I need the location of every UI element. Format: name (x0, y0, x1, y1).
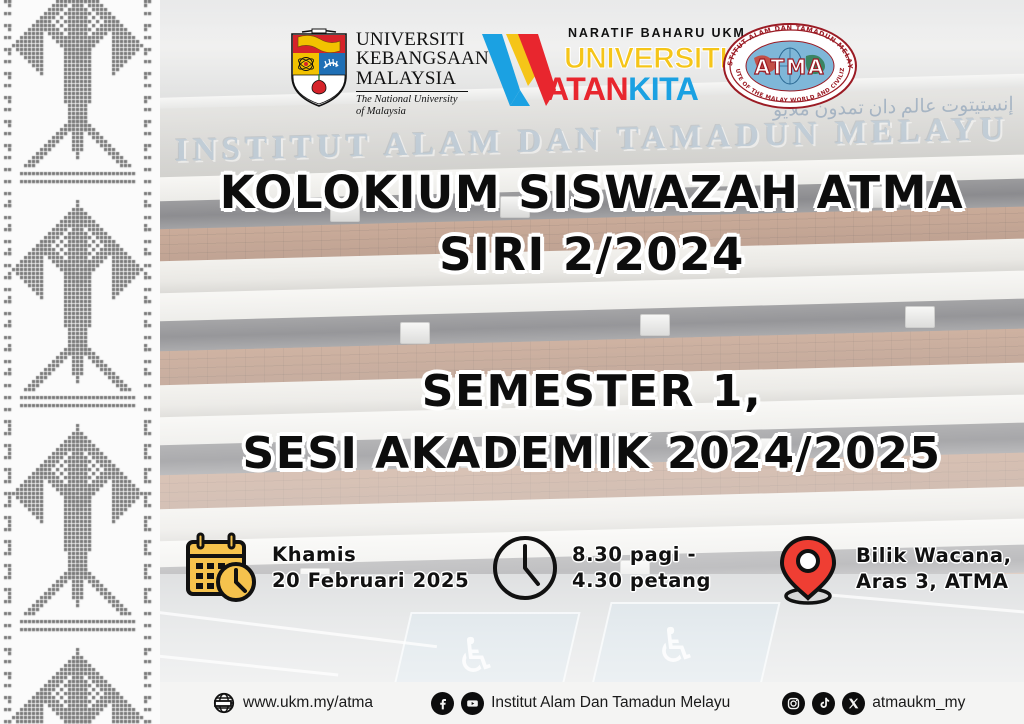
page-title-line2: SIRI 2/2024 (160, 232, 1024, 277)
svg-text:ATMA: ATMA (755, 55, 826, 79)
tiktok-icon[interactable] (812, 692, 835, 715)
footer-page-name: Institut Alam Dan Tamadun Melayu (491, 694, 730, 712)
event-time-line1: 8.30 pagi - (572, 542, 711, 568)
footer-social-handle: atmaukm_my (872, 694, 965, 712)
event-venue-line2: Aras 3, ATMA (856, 569, 1012, 595)
event-date-text: Khamis 20 Februari 2025 (272, 542, 469, 593)
footer-page-group[interactable]: Institut Alam Dan Tamadun Melayu (431, 692, 730, 715)
event-date-line2: 20 Februari 2025 (272, 568, 469, 594)
event-time-text: 8.30 pagi - 4.30 petang (572, 542, 711, 593)
ukm-tagline-line2: of Malaysia (356, 106, 476, 118)
clock-icon (490, 532, 560, 604)
event-venue-block: Bilik Wacana, Aras 3, ATMA (772, 532, 1012, 606)
ukm-name-line1: UNIVERSITI (356, 30, 476, 49)
event-venue-text: Bilik Wacana, Aras 3, ATMA (856, 543, 1012, 594)
watan-line2-blue: KITA (628, 71, 698, 107)
ukm-crest-icon (288, 28, 350, 108)
page-title-line1: KOLOKIUM SISWAZAH ATMA (160, 170, 1024, 215)
watan-line2: ATANKITA (546, 71, 698, 108)
calendar-icon (182, 532, 260, 604)
watan-line2-red: ATAN (546, 71, 628, 107)
instagram-icon[interactable] (782, 692, 805, 715)
footer-bar: www.ukm.my/atma Institut Alam Dan Tamadu… (160, 682, 1024, 724)
page-subtitle-line2: SESI AKADEMIK 2024/2025 (160, 432, 1024, 476)
youtube-icon[interactable] (461, 692, 484, 715)
ukm-name-line2: KEBANGSAAN (356, 49, 476, 68)
ukm-wordmark: UNIVERSITI KEBANGSAAN MALAYSIA The Natio… (356, 30, 476, 118)
songket-canvas (0, 0, 160, 724)
location-pin-icon (772, 532, 844, 606)
universiti-watan-kita-logo: NARATIF BAHARU UKM UNIVERSITI ATANKITA (480, 24, 710, 108)
atma-seal-icon: ATMA INSTITUT ALAM DAN TAMADUN MELAYU IN… (720, 22, 860, 110)
event-date-line1: Khamis (272, 542, 469, 568)
footer-website-group[interactable]: www.ukm.my/atma (212, 691, 373, 715)
footer-website-text: www.ukm.my/atma (243, 694, 373, 712)
event-time-block: 8.30 pagi - 4.30 petang (490, 532, 711, 604)
header-logo-row: UNIVERSITI KEBANGSAAN MALAYSIA The Natio… (160, 0, 1024, 126)
event-details-row: Khamis 20 Februari 2025 8.30 pagi - 4.30… (160, 524, 1024, 616)
page-subtitle-line1: SEMESTER 1, (160, 370, 1024, 414)
ukm-name-line3: MALAYSIA (356, 69, 476, 88)
event-time-line2: 4.30 petang (572, 568, 711, 594)
facebook-icon[interactable] (431, 692, 454, 715)
event-venue-line1: Bilik Wacana, (856, 543, 1012, 569)
ukm-tagline-line1: The National University (356, 94, 476, 106)
footer-social-group[interactable]: atmaukm_my (782, 692, 965, 715)
poster-canvas: INSTITUT ALAM DAN TAMADUN MELAYU إنستيتو… (0, 0, 1024, 724)
songket-border-pattern (0, 0, 160, 724)
event-date-block: Khamis 20 Februari 2025 (182, 532, 469, 604)
globe-icon (212, 691, 236, 715)
ukm-divider (356, 91, 468, 92)
x-icon[interactable] (842, 692, 865, 715)
